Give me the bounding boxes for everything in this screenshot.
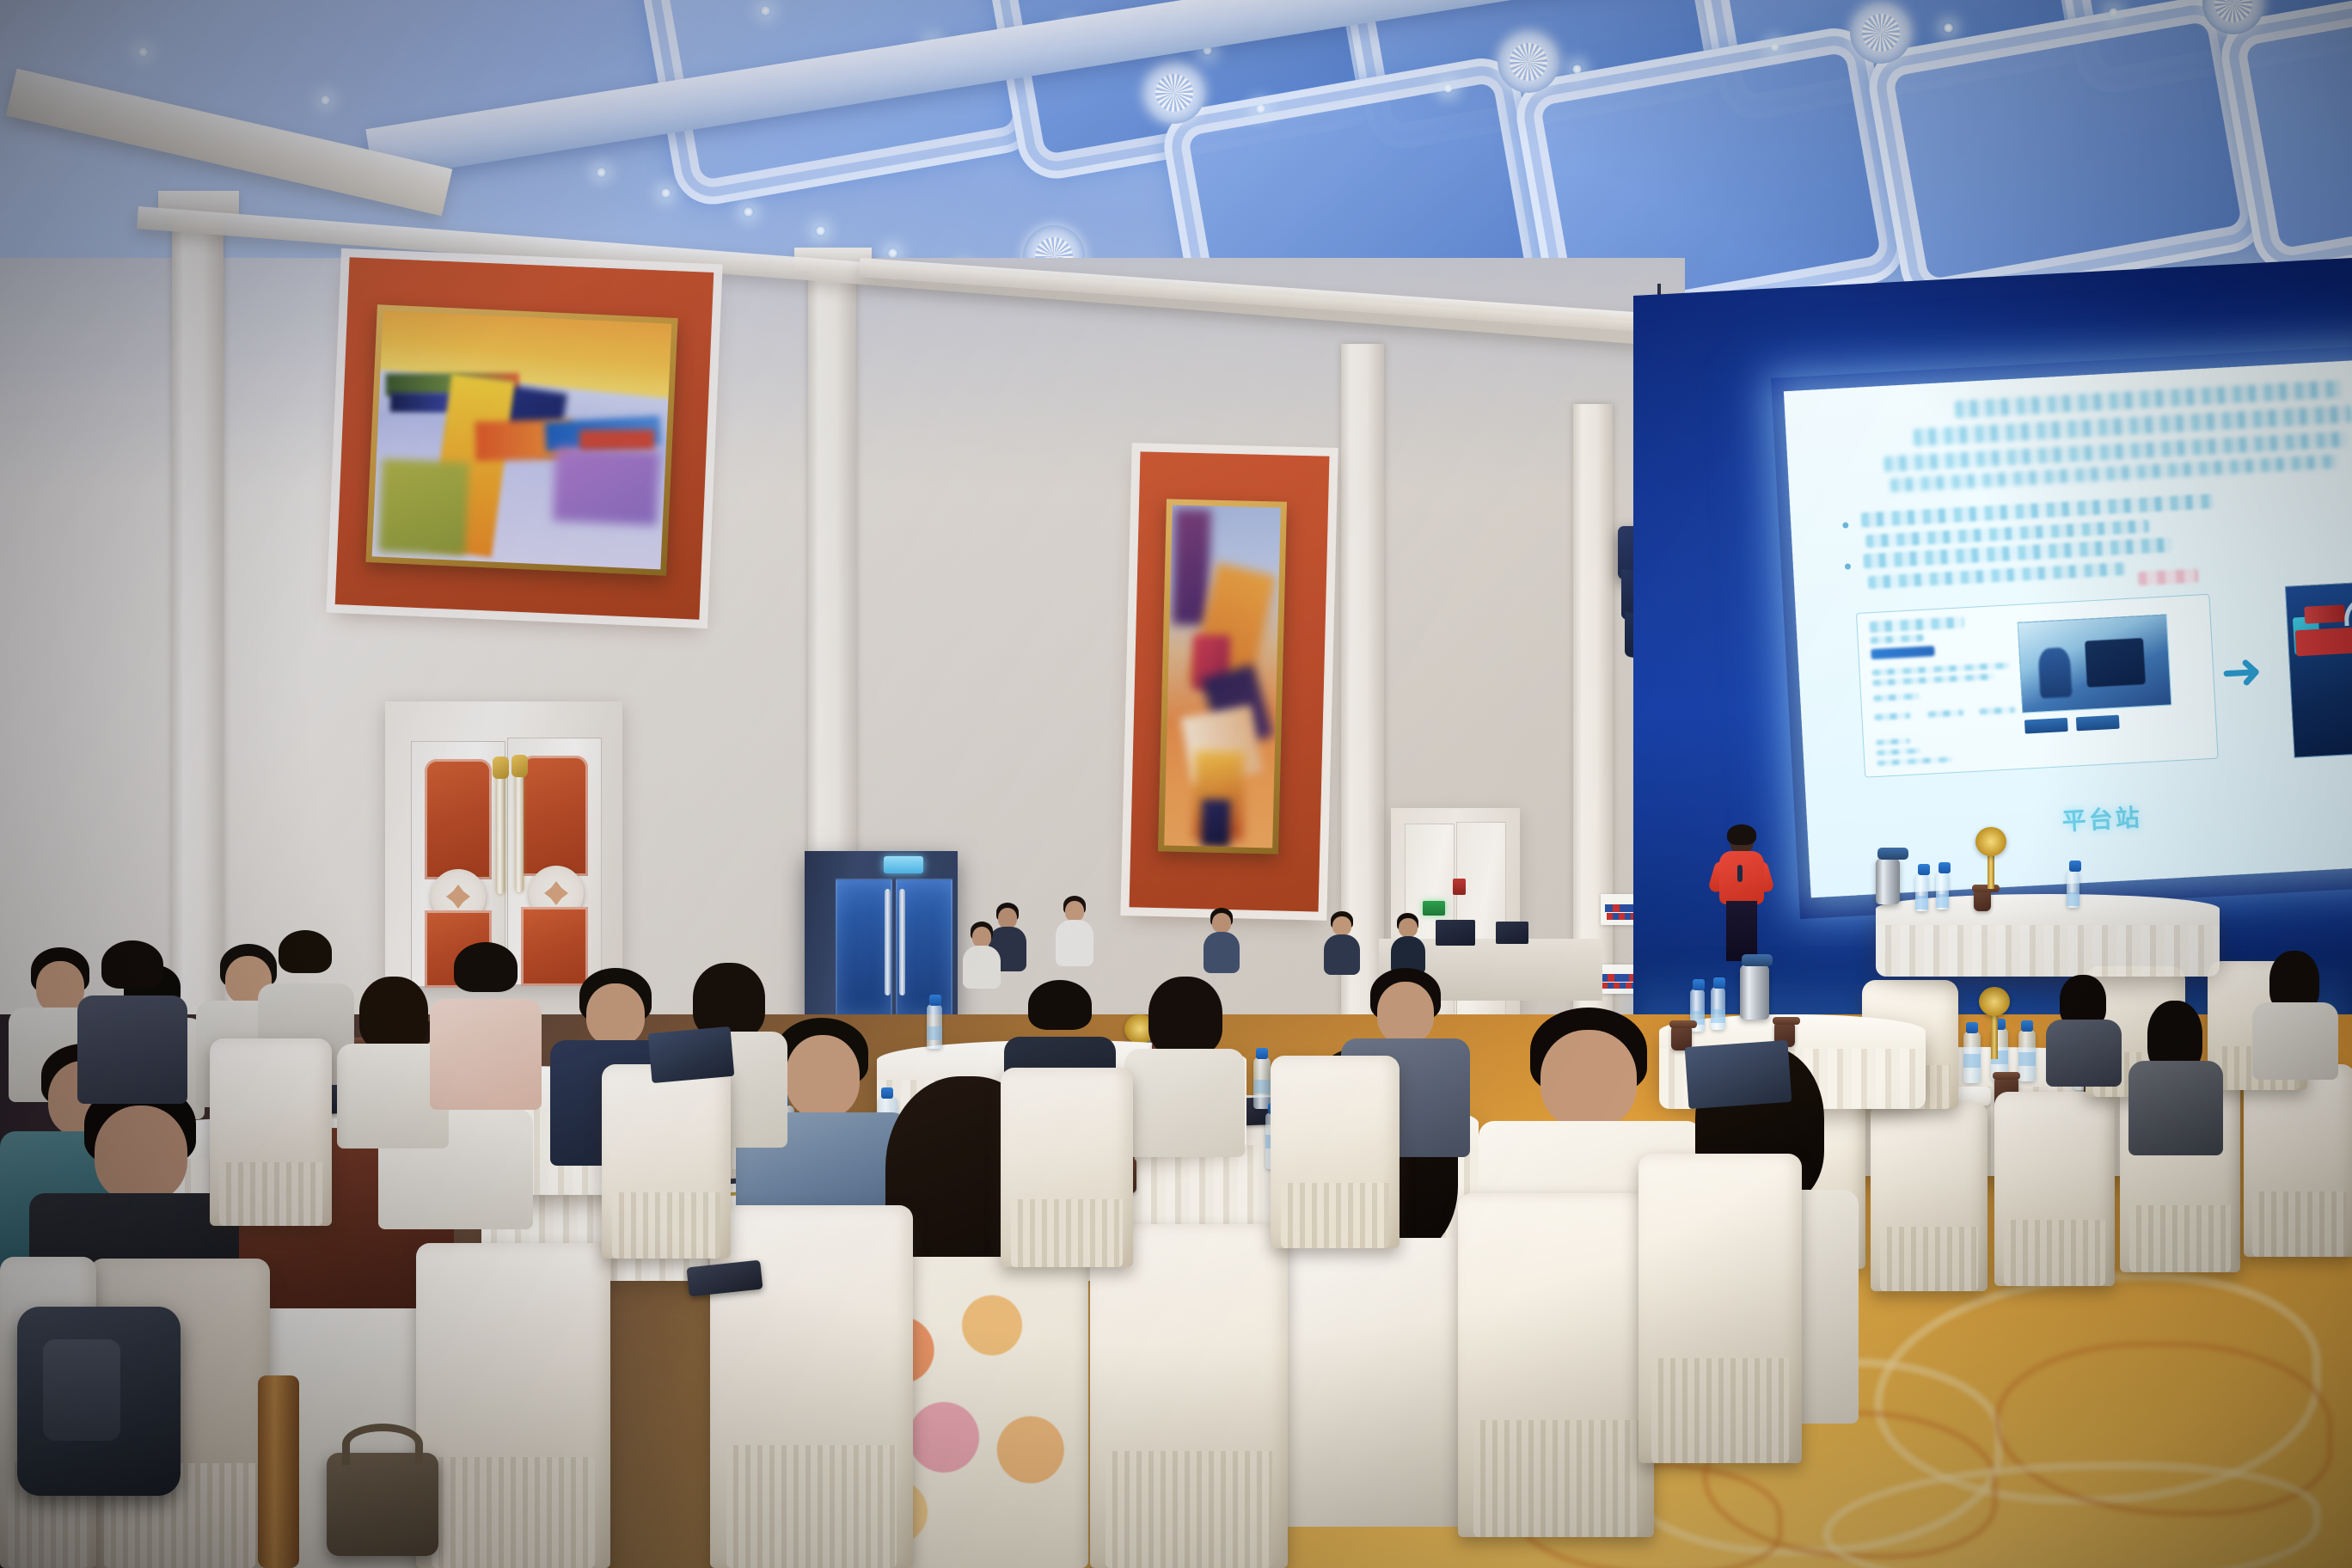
slide-mock-button (2076, 715, 2120, 732)
ceiling-downlight (320, 95, 331, 106)
ceiling-downlight (743, 206, 754, 217)
banquet-chair[interactable] (2244, 1064, 2352, 1257)
audience-member (2046, 975, 2122, 1087)
audience-member (1391, 913, 1425, 975)
ceiling-downlight (1442, 83, 1454, 94)
banquet-chair[interactable] (1001, 1068, 1133, 1267)
wall-pilaster (172, 203, 224, 1045)
banquet-chair[interactable] (1994, 1092, 2115, 1286)
ceiling-downlight (660, 187, 671, 199)
presentation-slide: ➜ 平台站 (1784, 359, 2352, 897)
banquet-chair[interactable] (210, 1038, 332, 1226)
conference-hall-photo: ➜ 平台站 (0, 0, 2352, 1568)
ceiling-coffer (1863, 0, 2272, 309)
door-handle-left[interactable] (497, 774, 505, 894)
water-bottle (1915, 873, 1928, 911)
presenter-hair (1727, 824, 1756, 845)
slide-mock-button (2024, 718, 2068, 734)
banquet-chair[interactable] (710, 1205, 913, 1568)
ceiling-downlight (760, 5, 771, 16)
table-number-stand (1988, 851, 1994, 889)
banquet-chair[interactable] (416, 1243, 610, 1568)
audience-member (1124, 977, 1245, 1157)
abstract-vertical-painting (1158, 499, 1287, 854)
ceiling-rosette (1498, 31, 1559, 93)
exit-sign (1423, 901, 1445, 916)
ceiling-downlight (2108, 7, 2119, 18)
audience-member (1204, 908, 1240, 973)
fire-alarm-box (1453, 879, 1466, 895)
ceiling-downlight (1255, 103, 1266, 114)
presenter (1715, 827, 1768, 961)
fridge-display-panel (884, 856, 923, 873)
slide-caption: 平台站 (1807, 785, 2352, 851)
slide-mockup-card (1856, 594, 2219, 778)
ceiling-downlight (596, 167, 607, 178)
backpack (17, 1307, 181, 1496)
laptop[interactable] (1496, 922, 1528, 944)
water-bottle (2018, 1030, 2036, 1081)
handheld-microphone (1737, 865, 1743, 882)
ceiling-downlight (138, 46, 149, 58)
ceiling-rosette (1850, 2, 1912, 64)
audience-member (2128, 1001, 2223, 1155)
fridge-handle-left[interactable] (885, 889, 891, 995)
audience-member (1056, 896, 1093, 966)
water-bottle (1963, 1032, 1981, 1083)
banquet-chair[interactable] (1271, 1056, 1400, 1248)
projection-screen[interactable]: ➜ 平台站 (1771, 346, 2352, 919)
water-bottle (2067, 870, 2079, 908)
ceiling-downlight (815, 225, 826, 236)
audience-member (963, 922, 1001, 989)
slide-bullet-marker (1845, 563, 1851, 569)
audience-member (1324, 911, 1360, 975)
laptop[interactable] (1685, 1040, 1792, 1109)
slide-highlight-blurred (2138, 568, 2199, 585)
water-bottle (1936, 872, 1949, 910)
slide-bullet-text-blurred (1861, 493, 2214, 527)
wall-pilaster (1573, 404, 1613, 1023)
slide-result-screenshot (2285, 579, 2352, 757)
wooden-chair-back[interactable] (258, 1375, 299, 1568)
laptop[interactable] (1436, 920, 1475, 946)
banquet-chair[interactable] (1871, 1102, 1988, 1291)
flow-arrow-icon: ➜ (2220, 646, 2264, 699)
banquet-chair[interactable] (1458, 1193, 1654, 1537)
door-handle-right[interactable] (516, 772, 524, 892)
banquet-chair[interactable] (1090, 1224, 1288, 1568)
banquet-chair[interactable] (1638, 1154, 1802, 1463)
slide-screenshot-thumbnail (2018, 614, 2171, 713)
water-bottle (927, 1004, 942, 1049)
slide-bullet-marker (1842, 522, 1848, 528)
thermos-carafe (1876, 858, 1900, 904)
audience-member (77, 940, 187, 1104)
table-number-stand (1991, 1011, 1998, 1059)
abstract-landscape-painting (365, 304, 677, 576)
water-bottle (1711, 987, 1725, 1030)
audience-member (2252, 951, 2338, 1080)
ceiling-downlight (1769, 41, 1780, 52)
laptop[interactable] (648, 1026, 735, 1083)
ceiling-downlight (1571, 64, 1583, 75)
thermos-carafe (1740, 965, 1769, 1020)
ceiling-rosette (1143, 62, 1205, 124)
ceiling-downlight (1943, 22, 1954, 34)
presenter-skirt (1726, 901, 1757, 961)
handbag (327, 1453, 438, 1556)
banquet-chair[interactable] (602, 1064, 731, 1259)
fridge-handle-right[interactable] (899, 889, 905, 995)
audience-member (430, 942, 542, 1110)
tea-cup (1974, 891, 1991, 911)
